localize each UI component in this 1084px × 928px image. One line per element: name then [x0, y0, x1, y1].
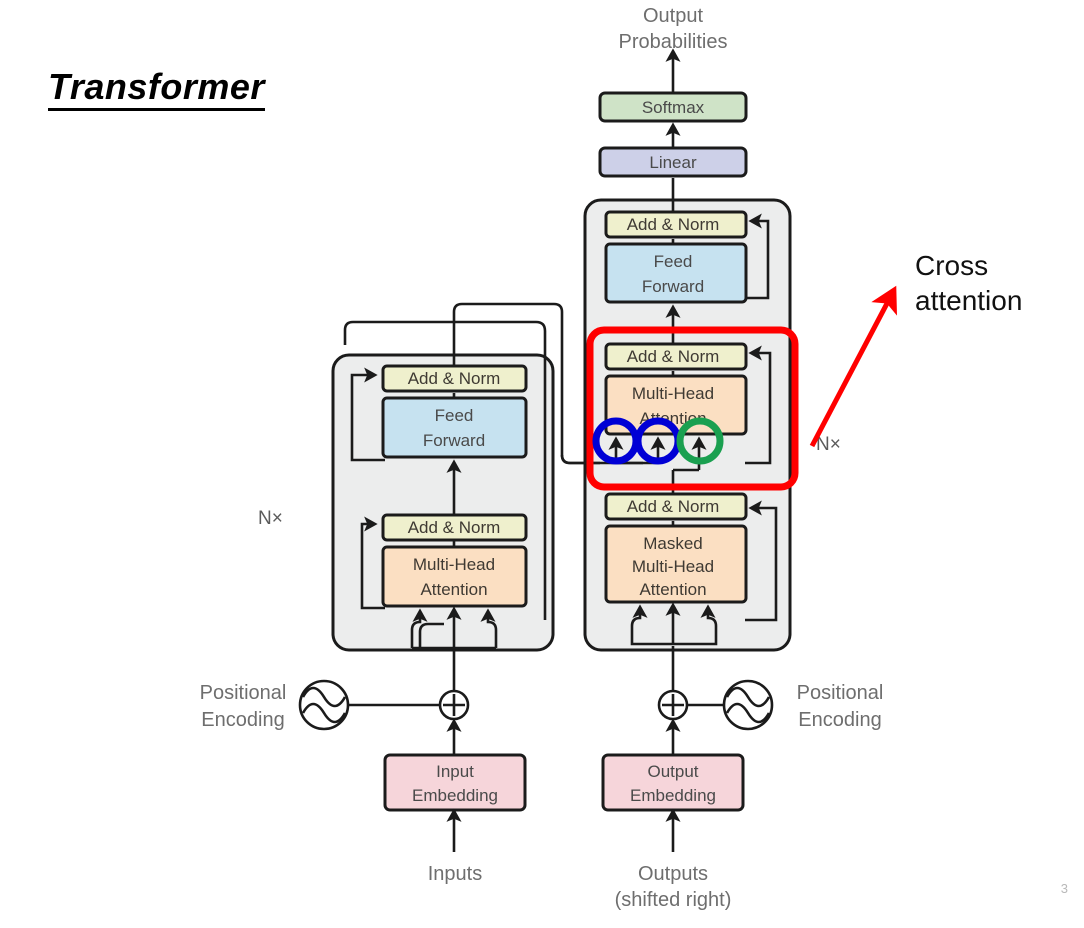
- encoder-positional-encoding-label-1: Positional: [200, 682, 287, 704]
- transformer-architecture-diagram: Output Probabilities Softmax Linear Add …: [0, 0, 1084, 928]
- output-embedding-label-1: Output: [647, 762, 698, 781]
- decoder-repeat-label: N×: [816, 434, 841, 455]
- softmax-label: Softmax: [642, 98, 705, 117]
- decoder-feed-forward-label-1: Feed: [654, 252, 693, 271]
- outputs-label-1: Outputs: [638, 863, 708, 885]
- slide-canvas: Transformer Cross attention 3: [0, 0, 1084, 928]
- decoder-feed-forward-label-2: Forward: [642, 277, 704, 296]
- outputs-label-2: (shifted right): [615, 889, 732, 911]
- encoder-positional-encoding-label-2: Encoding: [201, 709, 284, 731]
- linear-label: Linear: [649, 153, 697, 172]
- output-probabilities-line1: Output: [643, 5, 703, 27]
- encoder-positional-encoding-icon: [300, 681, 348, 729]
- output-probabilities-line2: Probabilities: [619, 31, 728, 53]
- decoder-positional-encoding-label-1: Positional: [797, 682, 884, 704]
- inputs-label: Inputs: [428, 863, 482, 885]
- input-embedding-label-2: Embedding: [412, 786, 498, 805]
- encoder-add-norm-bottom-label: Add & Norm: [408, 518, 501, 537]
- cross-attention-arrow: [812, 292, 893, 446]
- encoder-repeat-label: N×: [258, 508, 283, 529]
- decoder-add-norm-middle-label: Add & Norm: [627, 347, 720, 366]
- input-embedding-label-1: Input: [436, 762, 474, 781]
- decoder-add-norm-bottom-label: Add & Norm: [627, 497, 720, 516]
- decoder-positional-encoding-icon: [724, 681, 772, 729]
- encoder-multi-head-attention-label-2: Attention: [420, 580, 487, 599]
- encoder-feed-forward-label-2: Forward: [423, 431, 485, 450]
- decoder-masked-attention-label-3: Attention: [639, 580, 706, 599]
- encoder-feed-forward-label-1: Feed: [435, 406, 474, 425]
- encoder-add-norm-top-label: Add & Norm: [408, 369, 501, 388]
- decoder-positional-encoding-label-2: Encoding: [798, 709, 881, 731]
- decoder-masked-attention-label-2: Multi-Head: [632, 557, 714, 576]
- output-embedding-label-2: Embedding: [630, 786, 716, 805]
- decoder-masked-attention-label-1: Masked: [643, 534, 703, 553]
- encoder-multi-head-attention-label-1: Multi-Head: [413, 555, 495, 574]
- decoder-cross-attention-label-1: Multi-Head: [632, 384, 714, 403]
- decoder-add-norm-top-label: Add & Norm: [627, 215, 720, 234]
